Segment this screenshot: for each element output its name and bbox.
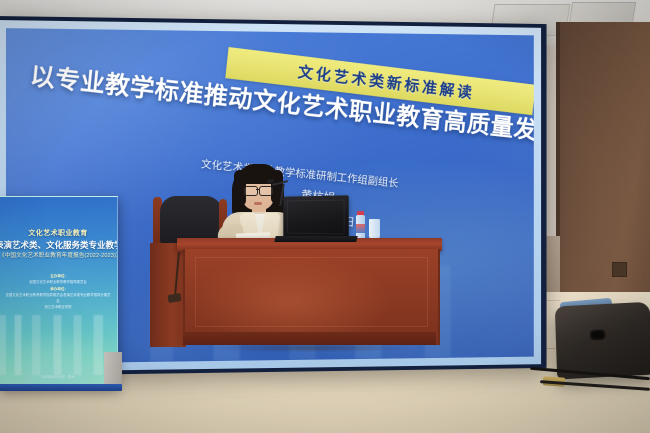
- desk-front-panel: [183, 249, 440, 345]
- standing-banner: 文化艺术职业教育 表演艺术类、文化服务类专业教学标准宣贯会 《中国文化艺术职业教…: [0, 196, 118, 390]
- glasses-lens-left-icon: [244, 186, 258, 196]
- glasses-bridge-icon: [256, 189, 259, 190]
- banner-coorg-value: 全国文化艺术职业教育教学指导委员会表演艺术类专业教学指导分委员会: [5, 293, 110, 303]
- bottle-label: [356, 224, 365, 233]
- banner-stand: [104, 352, 122, 386]
- laptop-base: [274, 236, 357, 242]
- stage-monitor-speaker: [555, 302, 650, 380]
- banner-base-bar: [0, 384, 122, 391]
- desk-shadow: [170, 342, 450, 354]
- banner-line-1: 文化艺术职业教育: [0, 228, 117, 238]
- glasses-lens-right-icon: [259, 186, 273, 196]
- banner-organizers: 主办单位: 全国文化艺术职业教育教学指导委员会 承办单位: 全国文化艺术职业教育…: [5, 273, 111, 311]
- mouth: [254, 202, 262, 205]
- presentation-photo-scene: 文化艺术类新标准解读 以专业教学标准推动文化艺术职业教育高质量发展 文化艺术类专…: [0, 0, 650, 433]
- wall-outlet-icon: [612, 262, 627, 277]
- banner-coorg-value-2: 浙江艺术职业学院: [44, 305, 71, 309]
- paper-cup: [369, 219, 380, 239]
- banner-skyline-graphic: [0, 315, 117, 375]
- laptop-screen: [283, 195, 348, 240]
- banner-coorg-label: 承办单位:: [50, 287, 66, 291]
- banner-footer: 2025年6月26日 · 杭州: [0, 374, 117, 379]
- banner-line-3: 《中国文化艺术职业教育年度报告(2022-2023)》发布会: [0, 251, 117, 259]
- banner-host-value: 全国文化艺术职业教育教学指导委员会: [29, 280, 87, 284]
- banner-host-label: 主办单位:: [50, 274, 66, 278]
- banner-line-2: 表演艺术类、文化服务类专业教学标准宣贯会: [0, 239, 118, 251]
